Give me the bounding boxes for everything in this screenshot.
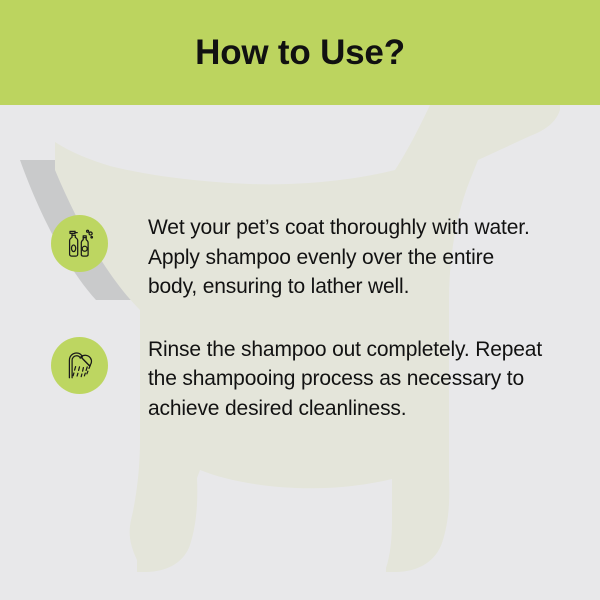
shampoo-bottles-icon [62,226,98,262]
header-band: How to Use? [0,0,600,105]
shampoo-bottles-icon-circle [51,215,108,272]
page-title: How to Use? [195,35,405,70]
step-item: Rinse the shampoo out completely. Repeat… [0,335,600,424]
step-item: Wet your pet’s coat thoroughly with wate… [0,213,600,302]
step-text: Wet your pet’s coat thoroughly with wate… [148,213,548,302]
how-to-use-poster: How to Use? [0,0,600,600]
shower-head-icon [62,347,98,383]
shower-head-icon-circle [51,337,108,394]
steps-list: Wet your pet’s coat thoroughly with wate… [0,105,600,423]
step-text: Rinse the shampoo out completely. Repeat… [148,335,548,424]
